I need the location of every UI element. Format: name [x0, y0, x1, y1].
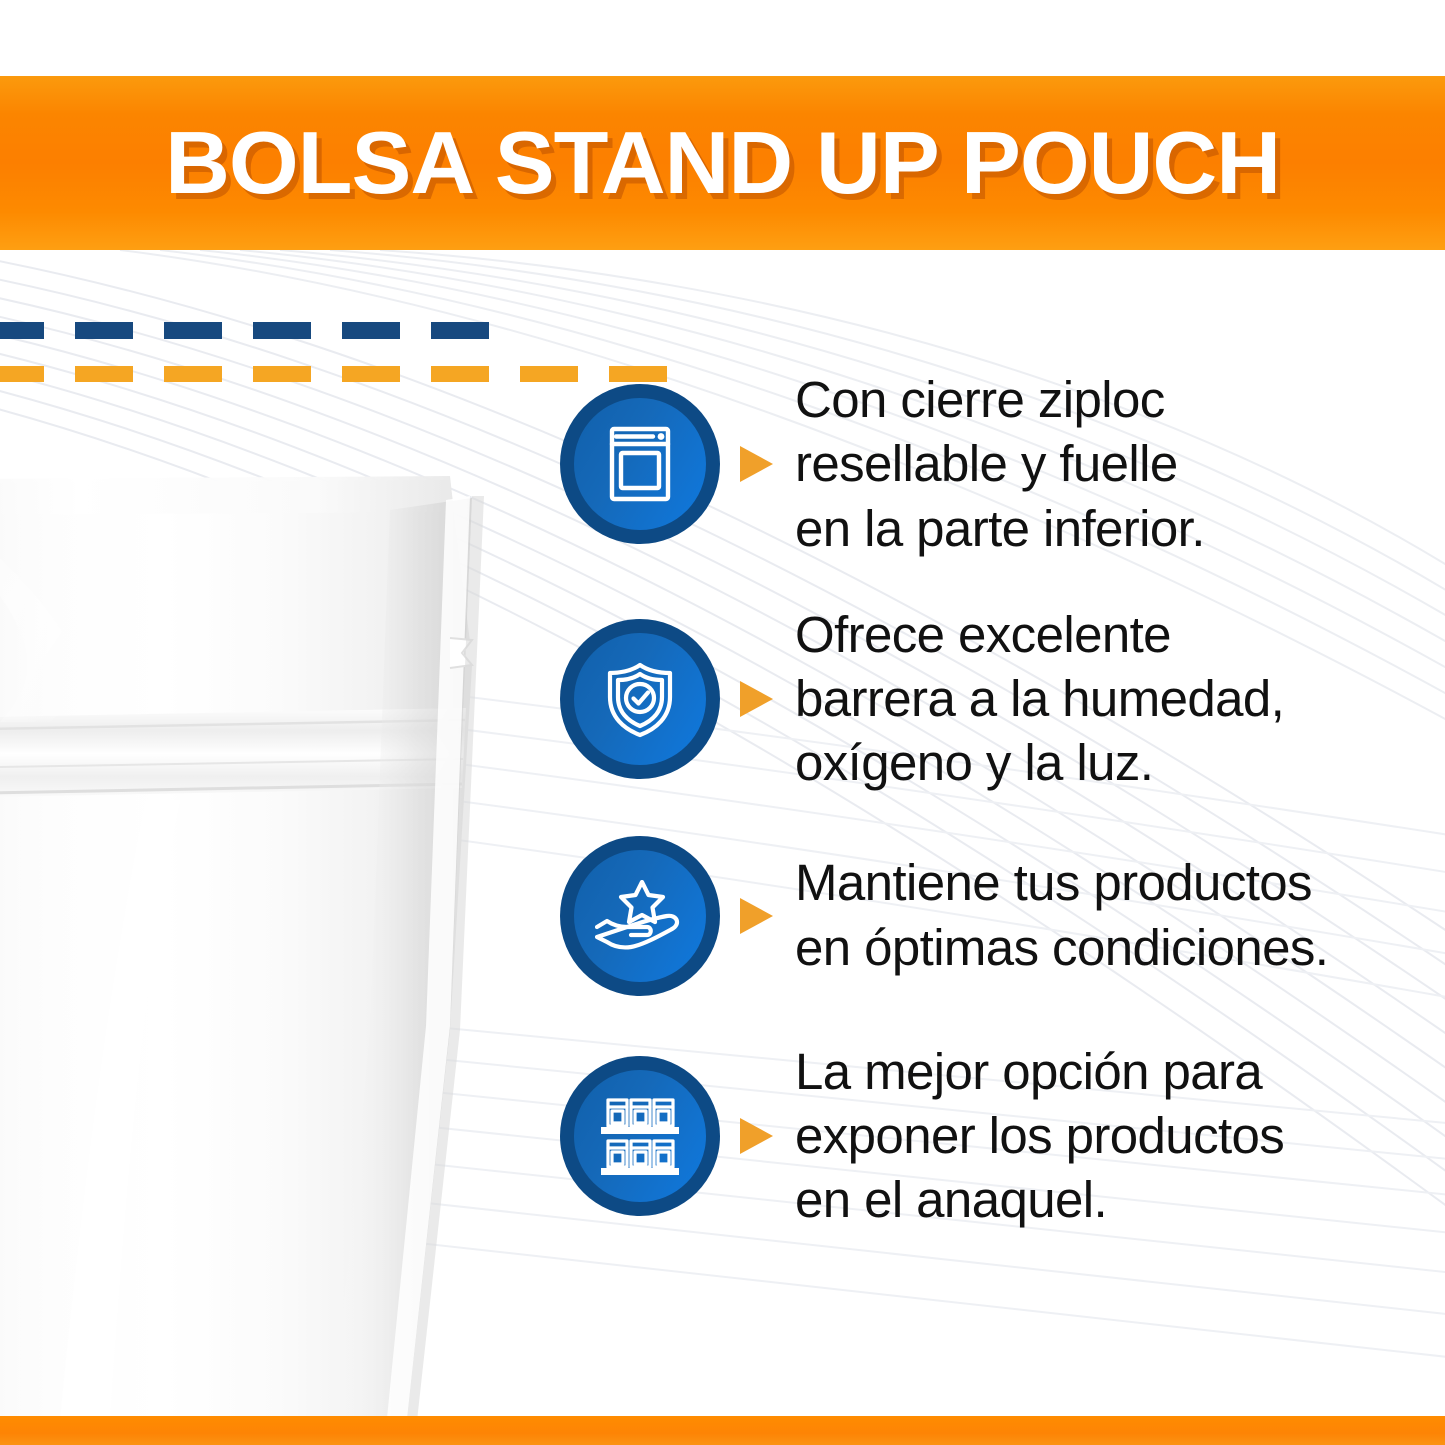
shield-check-icon [600, 659, 680, 739]
icon-disc [574, 398, 706, 530]
feature-item: Mantiene tus productos en óptimas condic… [560, 836, 1420, 996]
icon-disc [574, 633, 706, 765]
feature-text: Con cierre ziploc resellable y fuelle en… [795, 368, 1420, 561]
hand-star-icon [595, 880, 685, 952]
shelf-pouches-icon [598, 1096, 682, 1176]
dash-segment [75, 322, 133, 339]
feature-item: La mejor opción para exponer los product… [560, 1040, 1420, 1233]
page-title: BOLSA STAND UP POUCH [165, 119, 1280, 207]
dash-segment [164, 322, 222, 339]
feature-text: Ofrece excelente barrera a la humedad, o… [795, 603, 1420, 796]
dash-segment [164, 366, 222, 382]
dash-segment [75, 366, 133, 382]
feature-text: Mantiene tus productos en óptimas condic… [795, 851, 1420, 980]
infographic-canvas: BOLSA STAND UP POUCH [0, 0, 1445, 1445]
feature-item: Ofrece excelente barrera a la humedad, o… [560, 603, 1420, 796]
dash-segment [342, 366, 400, 382]
icon-disc [574, 1070, 706, 1202]
triangle-right-icon [740, 681, 773, 717]
icon-disc [574, 850, 706, 982]
feature-list: Con cierre ziploc resellable y fuelle en… [560, 368, 1420, 1232]
feature-icon-badge [560, 619, 720, 779]
header-banner: BOLSA STAND UP POUCH [0, 76, 1445, 250]
feature-icon-badge [560, 384, 720, 544]
decor-dashes-blue [0, 322, 520, 339]
triangle-right-icon [740, 446, 773, 482]
dash-segment [342, 322, 400, 339]
triangle-right-icon [740, 898, 773, 934]
feature-icon-badge [560, 1056, 720, 1216]
dash-segment [431, 322, 489, 339]
dash-segment [253, 322, 311, 339]
feature-text: La mejor opción para exponer los product… [795, 1040, 1420, 1233]
bottom-accent-bar [0, 1416, 1445, 1445]
feature-item: Con cierre ziploc resellable y fuelle en… [560, 368, 1420, 561]
triangle-right-icon [740, 1118, 773, 1154]
pouch-icon [603, 424, 677, 504]
product-pouch-image [0, 470, 510, 1430]
dash-segment [0, 322, 44, 339]
dash-segment [431, 366, 489, 382]
dash-segment [0, 366, 44, 382]
feature-icon-badge [560, 836, 720, 996]
dash-segment [253, 366, 311, 382]
